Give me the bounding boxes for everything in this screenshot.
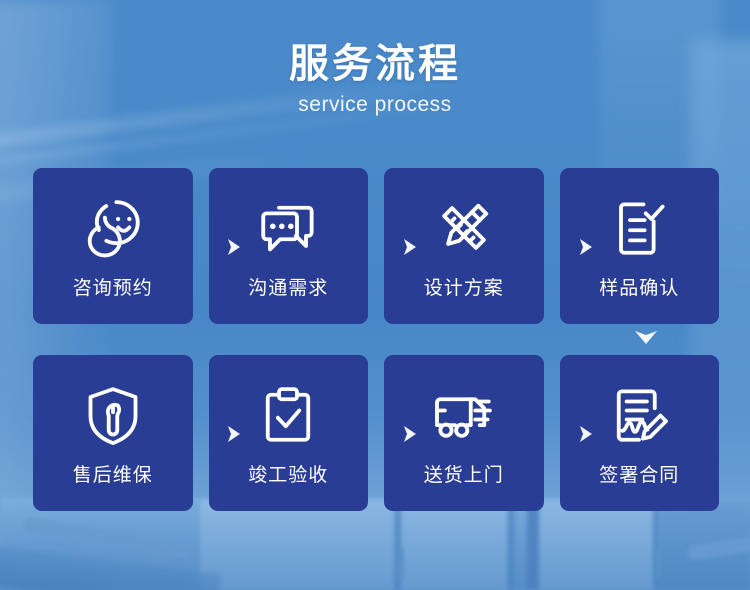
process-card-label: 样品确认 — [599, 277, 679, 301]
phone-smile-icon — [77, 192, 149, 264]
process-card-design[interactable]: 设计方案 — [384, 168, 544, 324]
process-card-label: 咨询预约 — [73, 277, 153, 301]
contract-pen-icon — [603, 379, 675, 451]
process-card-communication[interactable]: 沟通需求 — [209, 168, 369, 324]
process-card-label: 竣工验收 — [248, 464, 328, 488]
process-flow-grid: 咨询预约 沟通需求 — [33, 168, 719, 511]
process-row-bottom: 售后维保 竣工验收 — [33, 355, 719, 511]
page-title: 服务流程 — [0, 40, 750, 88]
process-card-label: 签署合同 — [599, 464, 679, 488]
process-card-sign-contract[interactable]: 签署合同 — [560, 355, 720, 511]
process-card-consultation[interactable]: 咨询预约 — [33, 168, 193, 324]
process-card-label: 送货上门 — [424, 464, 504, 488]
chat-bubbles-icon — [252, 192, 324, 264]
process-card-delivery[interactable]: 送货上门 — [384, 355, 544, 511]
process-card-after-sales[interactable]: 售后维保 — [33, 355, 193, 511]
process-card-acceptance[interactable]: 竣工验收 — [209, 355, 369, 511]
process-card-sample-confirm[interactable]: 样品确认 — [560, 168, 720, 324]
clipboard-check-icon — [252, 379, 324, 451]
page-subtitle: service process — [0, 92, 750, 118]
process-card-label: 设计方案 — [424, 277, 504, 301]
shield-wrench-icon — [77, 379, 149, 451]
document-check-icon — [603, 192, 675, 264]
banner-header: 服务流程 service process — [0, 40, 750, 118]
service-process-banner: 服务流程 service process 咨询预约 — [0, 0, 750, 590]
pencil-ruler-icon — [428, 192, 500, 264]
process-row-top: 咨询预约 沟通需求 — [33, 168, 719, 324]
process-card-label: 售后维保 — [73, 464, 153, 488]
process-card-label: 沟通需求 — [248, 277, 328, 301]
delivery-truck-icon — [428, 379, 500, 451]
